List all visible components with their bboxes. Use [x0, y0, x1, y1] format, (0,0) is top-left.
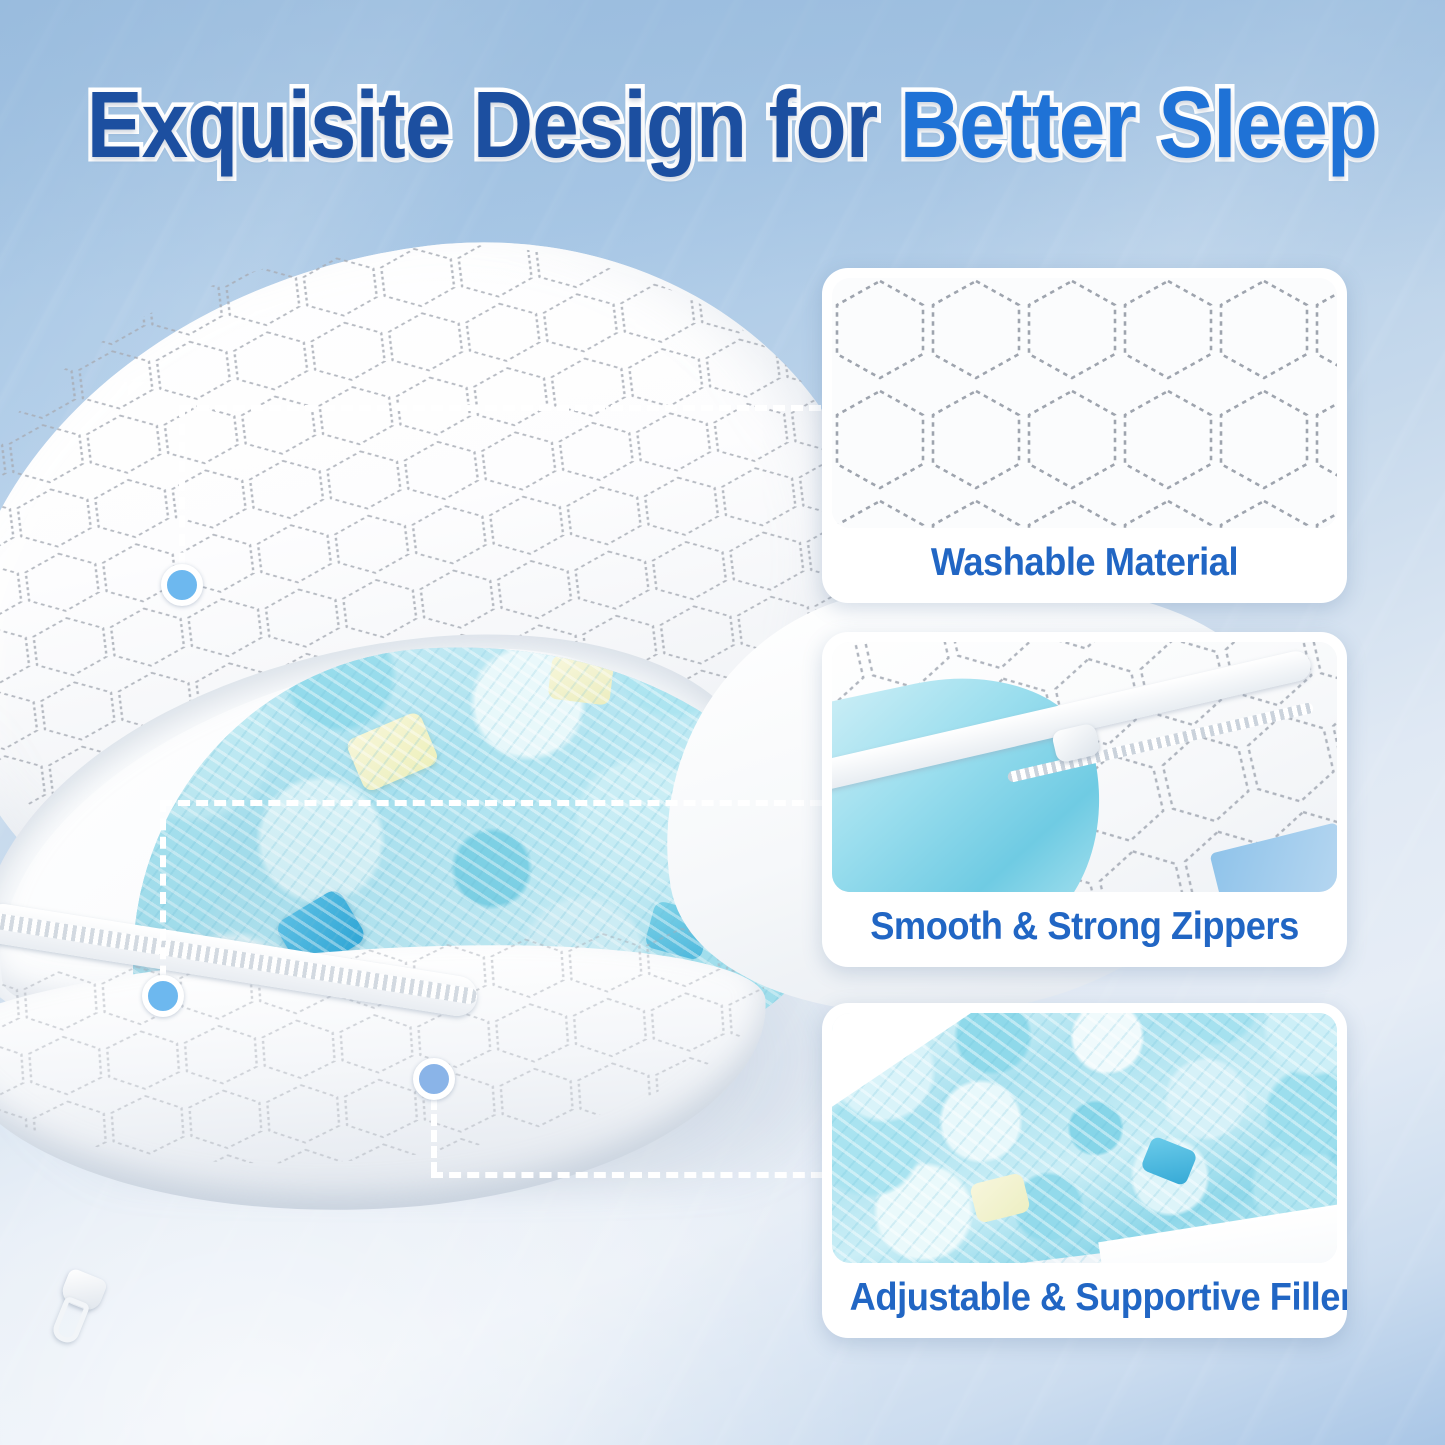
headline-part-primary: Exquisite Design for: [87, 72, 900, 178]
card-3-media-shredded-foam: [832, 1013, 1337, 1263]
page-headline: Exquisite Design for Better Sleep: [87, 78, 1359, 173]
card-1-media-honeycomb-fabric: [832, 278, 1337, 528]
card-3-caption: Adjustable & Supportive Filler: [850, 1263, 1320, 1338]
feature-card-smooth-strong-zippers[interactable]: Smooth & Strong Zippers: [822, 632, 1347, 967]
feature-card-adjustable-supportive-filler[interactable]: Adjustable & Supportive Filler: [822, 1003, 1347, 1338]
card-1-caption: Washable Material: [850, 528, 1320, 603]
headline-part-accent: Better Sleep: [900, 72, 1377, 178]
card-2-caption: Smooth & Strong Zippers: [850, 892, 1320, 967]
honeycomb-fabric-svg: [832, 278, 1337, 528]
zipper-pull-ring: [50, 1295, 91, 1346]
feature-card-washable-material[interactable]: Washable Material: [822, 268, 1347, 603]
card-2-media-zipper-closeup: [832, 642, 1337, 892]
